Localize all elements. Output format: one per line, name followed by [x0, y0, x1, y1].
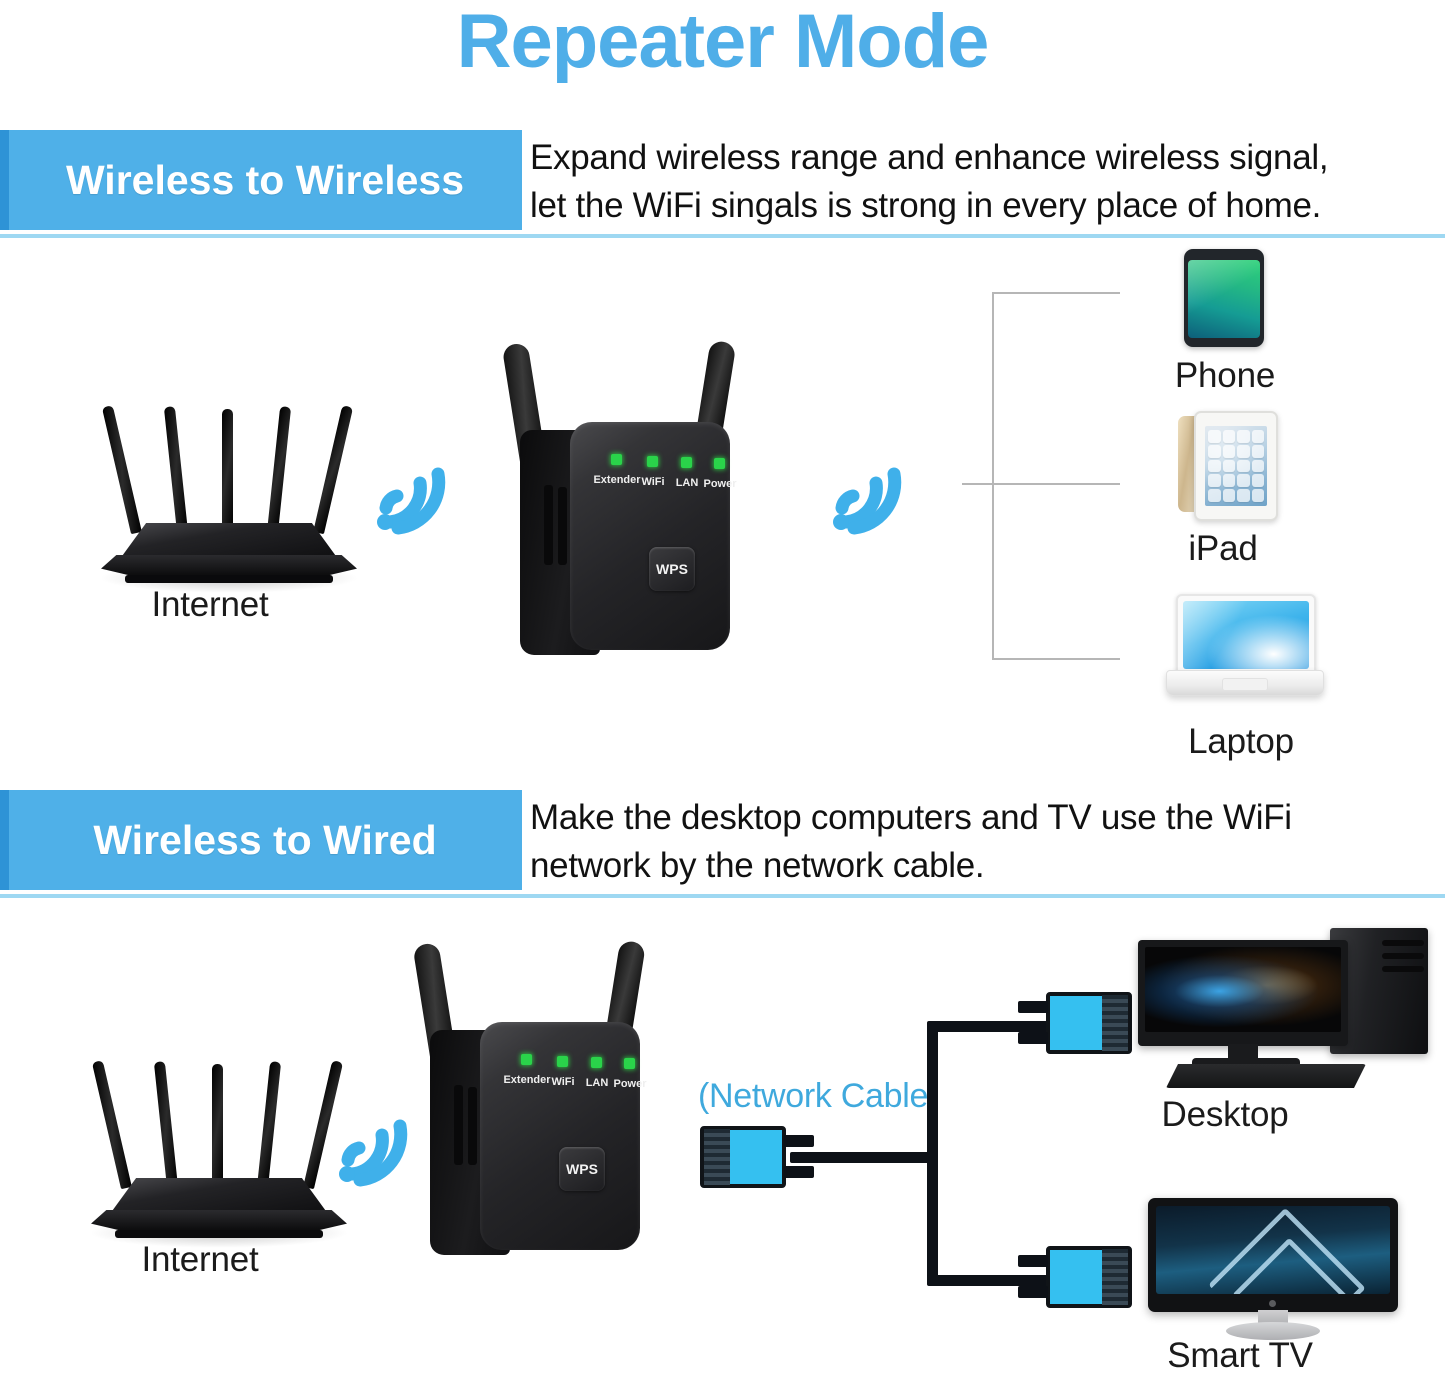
- tv-frame: [1148, 1198, 1398, 1312]
- rj45-connector-extender: [700, 1126, 786, 1188]
- wps-button-1[interactable]: WPS: [649, 547, 695, 591]
- rj45-connector-desktop: [1046, 992, 1132, 1054]
- phone-screen: [1188, 260, 1260, 338]
- led-lan: [591, 1057, 602, 1068]
- ipad-app-icon: [1252, 474, 1265, 487]
- wifi-dot: [339, 1166, 355, 1182]
- router-mid-shell: [91, 1210, 347, 1232]
- rj45-pin: [1018, 1001, 1048, 1013]
- router-antenna: [92, 1060, 132, 1189]
- pc-monitor-screen: [1145, 947, 1341, 1032]
- wifi-arcs-svg: [828, 452, 920, 538]
- repeater-mode-infographic: Repeater Mode Wireless to Wireless Expan…: [0, 0, 1445, 1383]
- pill-edge-accent-1: [0, 130, 9, 230]
- rj45-pin: [1018, 1255, 1048, 1267]
- desc-line-1-2: let the WiFi singals is strong in every …: [530, 182, 1435, 230]
- cable-branch-desktop: [927, 1021, 1055, 1032]
- ipad-app-icon: [1252, 460, 1265, 473]
- ipad-app-icon: [1208, 474, 1221, 487]
- wifi-dot: [377, 514, 393, 530]
- pc-tower-vent: [1382, 953, 1424, 959]
- ipad-app-icon: [1208, 430, 1221, 443]
- ipad-app-icon: [1223, 430, 1236, 443]
- ipad-app-icon: [1237, 460, 1250, 473]
- caption-phone: Phone: [1120, 356, 1330, 396]
- ipad-app-icon: [1237, 474, 1250, 487]
- caption-smart-tv: Smart TV: [1090, 1336, 1390, 1376]
- rj45-contacts: [1102, 1249, 1128, 1305]
- router-antenna: [222, 409, 233, 531]
- page-title: Repeater Mode: [0, 0, 1445, 88]
- led-power: [624, 1058, 635, 1069]
- laptop-icon: [1166, 594, 1322, 704]
- pc-tower-vent: [1382, 940, 1424, 946]
- led-label-power: Power: [606, 1078, 654, 1090]
- laptop-lid: [1176, 594, 1316, 676]
- section-label-pill-2: Wireless to Wired: [0, 790, 522, 890]
- led-extender: [521, 1054, 532, 1065]
- section-divider-1: [0, 234, 1445, 238]
- router-mid-shell: [101, 555, 357, 577]
- ipad-app-icon: [1237, 430, 1250, 443]
- rj45-pin: [784, 1166, 814, 1178]
- extender-vent: [468, 1087, 477, 1165]
- extender-vent: [558, 487, 567, 565]
- pc-monitor: [1138, 940, 1348, 1046]
- tv-indicator-dot: [1269, 1300, 1276, 1307]
- section-divider-2: [0, 894, 1445, 898]
- led-power: [714, 458, 725, 469]
- led-wifi: [647, 456, 658, 467]
- extender-vent: [544, 485, 553, 565]
- router-antenna: [313, 405, 353, 534]
- led-wifi: [557, 1056, 568, 1067]
- caption-desktop: Desktop: [1075, 1095, 1375, 1135]
- router-base: [115, 1230, 323, 1238]
- ipad-app-icon: [1208, 460, 1221, 473]
- laptop-trackpad: [1222, 678, 1268, 691]
- desc-line-2-2: network by the network cable.: [530, 842, 1435, 890]
- router-icon-1: [95, 395, 405, 595]
- cable-horizontal-trunk: [790, 1152, 938, 1163]
- ipad-app-icon: [1223, 489, 1236, 502]
- wifi-range-extender-2: Extender WiFi LAN Power WPS: [410, 935, 680, 1275]
- section-header-wireless-to-wireless: Wireless to Wireless Expand wireless ran…: [0, 130, 1445, 238]
- television-icon: [1148, 1198, 1428, 1338]
- led-label-power: Power: [696, 478, 744, 490]
- wps-button-2[interactable]: WPS: [559, 1147, 605, 1191]
- ipad-app-icon: [1237, 445, 1250, 458]
- caption-internet-2: Internet: [85, 1240, 315, 1280]
- desc-line-2-1: Make the desktop computers and TV use th…: [530, 794, 1435, 842]
- desktop-computer-icon: [1130, 928, 1430, 1088]
- rj45-pin: [1018, 1286, 1048, 1298]
- ipad-app-icon: [1237, 489, 1250, 502]
- ipad-app-icon: [1223, 460, 1236, 473]
- ipad-app-icon: [1252, 430, 1265, 443]
- rj45-connector-smarttv: [1046, 1246, 1132, 1308]
- ipad-chassis: [1194, 411, 1278, 521]
- wifi-dot: [833, 514, 849, 530]
- rj45-contacts: [1102, 995, 1128, 1051]
- cable-branch-smarttv: [927, 1275, 1055, 1286]
- smartphone-icon: [1184, 249, 1264, 347]
- ipad-screen: [1205, 426, 1267, 506]
- router-antenna: [164, 406, 188, 532]
- cable-vertical-spine: [927, 1027, 938, 1285]
- section-header-wireless-to-wired: Wireless to Wired Make the desktop compu…: [0, 790, 1445, 898]
- pc-tower-vent: [1382, 966, 1424, 972]
- section-label-pill-1: Wireless to Wireless: [0, 130, 522, 230]
- pc-keyboard: [1166, 1064, 1366, 1088]
- ipad-app-icon: [1252, 445, 1265, 458]
- section-description-1: Expand wireless range and enhance wirele…: [530, 134, 1435, 230]
- led-extender: [611, 454, 622, 465]
- led-lan: [681, 457, 692, 468]
- caption-internet-1: Internet: [95, 585, 325, 625]
- extender-vent: [454, 1085, 463, 1165]
- network-cable-label: (Network Cable): [698, 1077, 939, 1116]
- section-description-2: Make the desktop computers and TV use th…: [530, 794, 1435, 890]
- router-base: [125, 575, 333, 583]
- ipad-app-icon: [1252, 489, 1265, 502]
- wifi-arcs-svg: [372, 452, 464, 538]
- section-label-1: Wireless to Wireless: [58, 157, 464, 204]
- caption-ipad: iPad: [1118, 529, 1328, 569]
- ipad-app-icon: [1208, 445, 1221, 458]
- router-antenna: [154, 1061, 178, 1187]
- laptop-screen: [1183, 601, 1309, 669]
- rj45-pin: [784, 1135, 814, 1147]
- ipad-app-grid: [1205, 426, 1267, 506]
- router-antenna: [102, 405, 142, 534]
- section-label-2: Wireless to Wired: [85, 817, 436, 864]
- wifi-range-extender-1: Extender WiFi LAN Power WPS: [500, 335, 770, 675]
- desc-line-1-1: Expand wireless range and enhance wirele…: [530, 134, 1435, 182]
- ipad-app-icon: [1223, 445, 1236, 458]
- tablet-icon: [1178, 411, 1274, 517]
- caption-laptop: Laptop: [1136, 722, 1346, 762]
- ipad-app-icon: [1208, 489, 1221, 502]
- bracket-branch-ipad: [962, 483, 1120, 485]
- rj45-pin: [1018, 1032, 1048, 1044]
- tv-screen: [1156, 1206, 1390, 1294]
- router-antenna: [257, 1061, 281, 1187]
- wifi-signal-icon-1b: [828, 452, 920, 538]
- pill-edge-accent-2: [0, 790, 9, 890]
- bracket-trunk-1: [992, 292, 994, 660]
- ipad-app-icon: [1223, 474, 1236, 487]
- bracket-branch-phone: [992, 292, 1120, 294]
- bracket-branch-laptop: [992, 658, 1120, 660]
- wifi-signal-icon-1a: [372, 452, 464, 538]
- router-antenna: [267, 406, 291, 532]
- rj45-contacts: [704, 1129, 730, 1185]
- router-antenna: [212, 1064, 223, 1186]
